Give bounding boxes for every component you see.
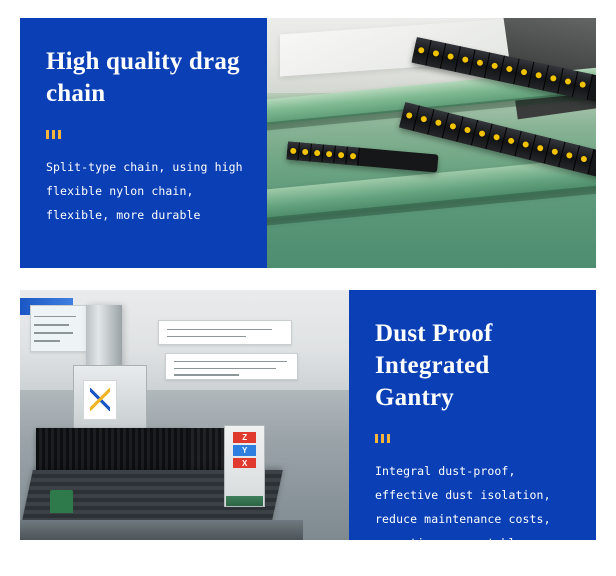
- card-title: Dust Proof Integrated Gantry: [375, 318, 574, 414]
- wall-sign-lower: [165, 353, 299, 380]
- three-bars-icon: [375, 434, 395, 443]
- card-description: Split-type chain, using high flexible ny…: [46, 155, 245, 227]
- wall-sign-left: [30, 305, 91, 352]
- drag-chain-left-tail: [286, 141, 438, 172]
- card-image: Z Y X: [20, 290, 349, 540]
- feature-card-drag-chain: High quality drag chain Split-type chain…: [20, 18, 596, 268]
- axis-control-box: Z Y X: [224, 425, 265, 507]
- drag-chain-photo: [267, 18, 596, 268]
- cnc-machine-photo: Z Y X: [20, 290, 349, 540]
- machine-bed-edge: [20, 520, 303, 540]
- card-title: High quality drag chain: [46, 46, 245, 110]
- axis-label-y: Y: [233, 445, 256, 455]
- axis-label-z: Z: [233, 432, 256, 442]
- wall-sign-upper: [158, 320, 292, 345]
- three-bars-icon: [46, 130, 66, 139]
- feature-cards-page: High quality drag chain Split-type chain…: [0, 0, 616, 576]
- axis-label-x: X: [233, 458, 256, 468]
- card-image: [267, 18, 596, 268]
- card-text-panel: High quality drag chain Split-type chain…: [20, 18, 267, 268]
- logo-mark-icon: [90, 388, 110, 411]
- dust-brush-skirt: [36, 428, 187, 471]
- card-description: Integral dust-proof, effective dust isol…: [375, 459, 574, 540]
- feature-card-dust-proof-gantry: Dust Proof Integrated Gantry Integral du…: [20, 290, 596, 540]
- brand-logo: [83, 380, 118, 420]
- control-box-base: [226, 496, 263, 506]
- green-object: [50, 490, 73, 513]
- card-text-panel: Dust Proof Integrated Gantry Integral du…: [349, 290, 596, 540]
